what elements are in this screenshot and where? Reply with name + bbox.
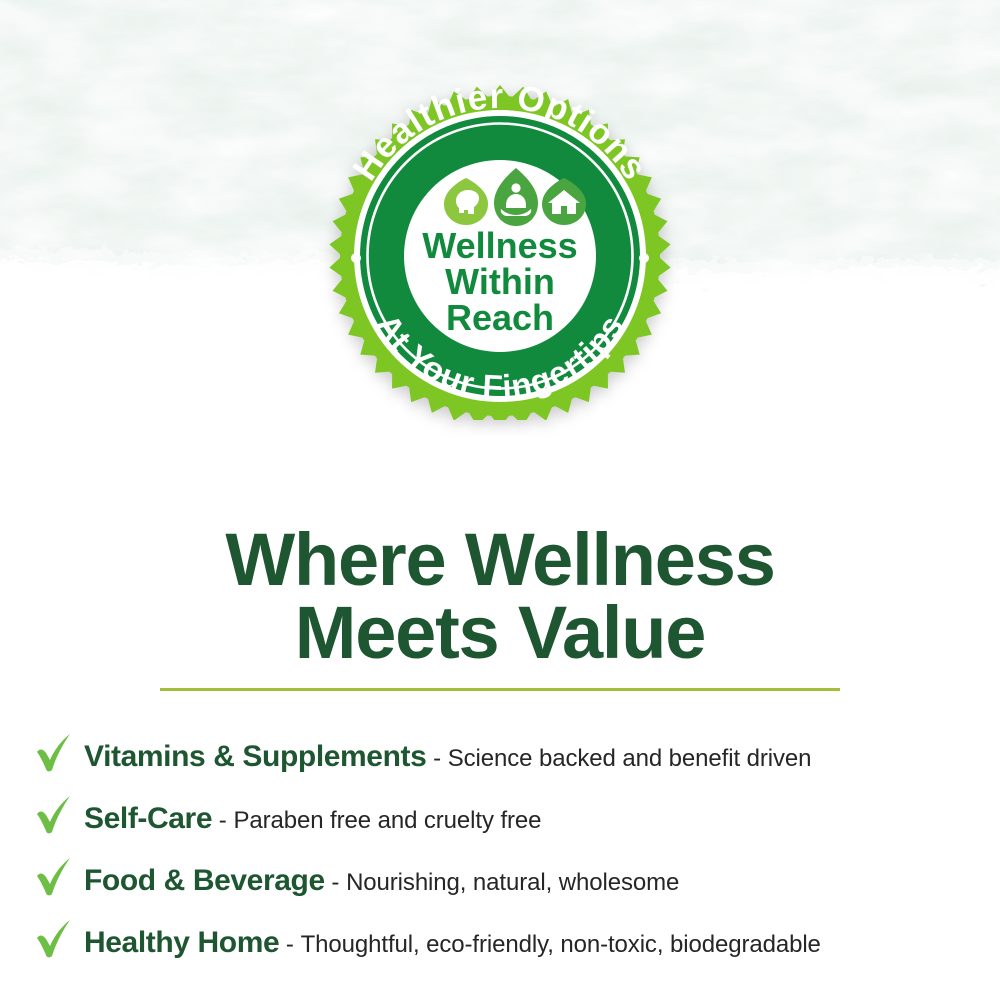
benefit-category: Self-Care	[84, 802, 212, 835]
benefit-category: Healthy Home	[84, 926, 279, 959]
benefit-description: Paraben free and cruelty free	[233, 807, 541, 834]
benefit-dash: -	[279, 931, 300, 958]
list-item: Self-Care - Paraben free and cruelty fre…	[0, 784, 1000, 846]
check-icon	[34, 854, 74, 898]
list-item-text: Self-Care - Paraben free and cruelty fre…	[84, 802, 1000, 836]
benefit-dash: -	[426, 745, 447, 772]
benefit-dash: -	[325, 869, 346, 896]
badge-dot-left	[351, 253, 361, 263]
headline-line-1: Where Wellness	[225, 518, 774, 601]
benefit-dash: -	[212, 807, 233, 834]
promo-banner: Healthier Options At Your Fingertips	[0, 0, 1000, 1000]
check-icon	[34, 792, 74, 836]
benefits-list: Vitamins & Supplements - Science backed …	[0, 722, 1000, 970]
list-item-text: Vitamins & Supplements - Science backed …	[84, 740, 1000, 774]
benefit-category: Vitamins & Supplements	[84, 740, 426, 773]
badge-dot-right	[639, 253, 649, 263]
check-icon	[34, 916, 74, 960]
list-item: Vitamins & Supplements - Science backed …	[0, 722, 1000, 784]
wellness-badge: Healthier Options At Your Fingertips	[296, 80, 704, 420]
benefit-category: Food & Beverage	[84, 864, 325, 897]
badge-center-line-3: Reach	[446, 297, 554, 338]
list-item: Healthy Home - Thoughtful, eco-friendly,…	[0, 908, 1000, 970]
benefit-description: Science backed and benefit driven	[448, 745, 812, 772]
benefit-description: Nourishing, natural, wholesome	[346, 869, 679, 896]
badge-center-line-2: Within	[445, 261, 555, 302]
headline-line-2: Meets Value	[0, 597, 1000, 670]
list-item-text: Food & Beverage - Nourishing, natural, w…	[84, 864, 1000, 898]
title-divider	[160, 688, 840, 691]
benefit-description: Thoughtful, eco-friendly, non-toxic, bio…	[301, 931, 821, 958]
list-item-text: Healthy Home - Thoughtful, eco-friendly,…	[84, 926, 1000, 960]
list-item: Food & Beverage - Nourishing, natural, w…	[0, 846, 1000, 908]
badge-center-line-1: Wellness	[422, 225, 577, 266]
check-icon	[34, 730, 74, 774]
page-title: Where Wellness Meets Value	[0, 524, 1000, 669]
